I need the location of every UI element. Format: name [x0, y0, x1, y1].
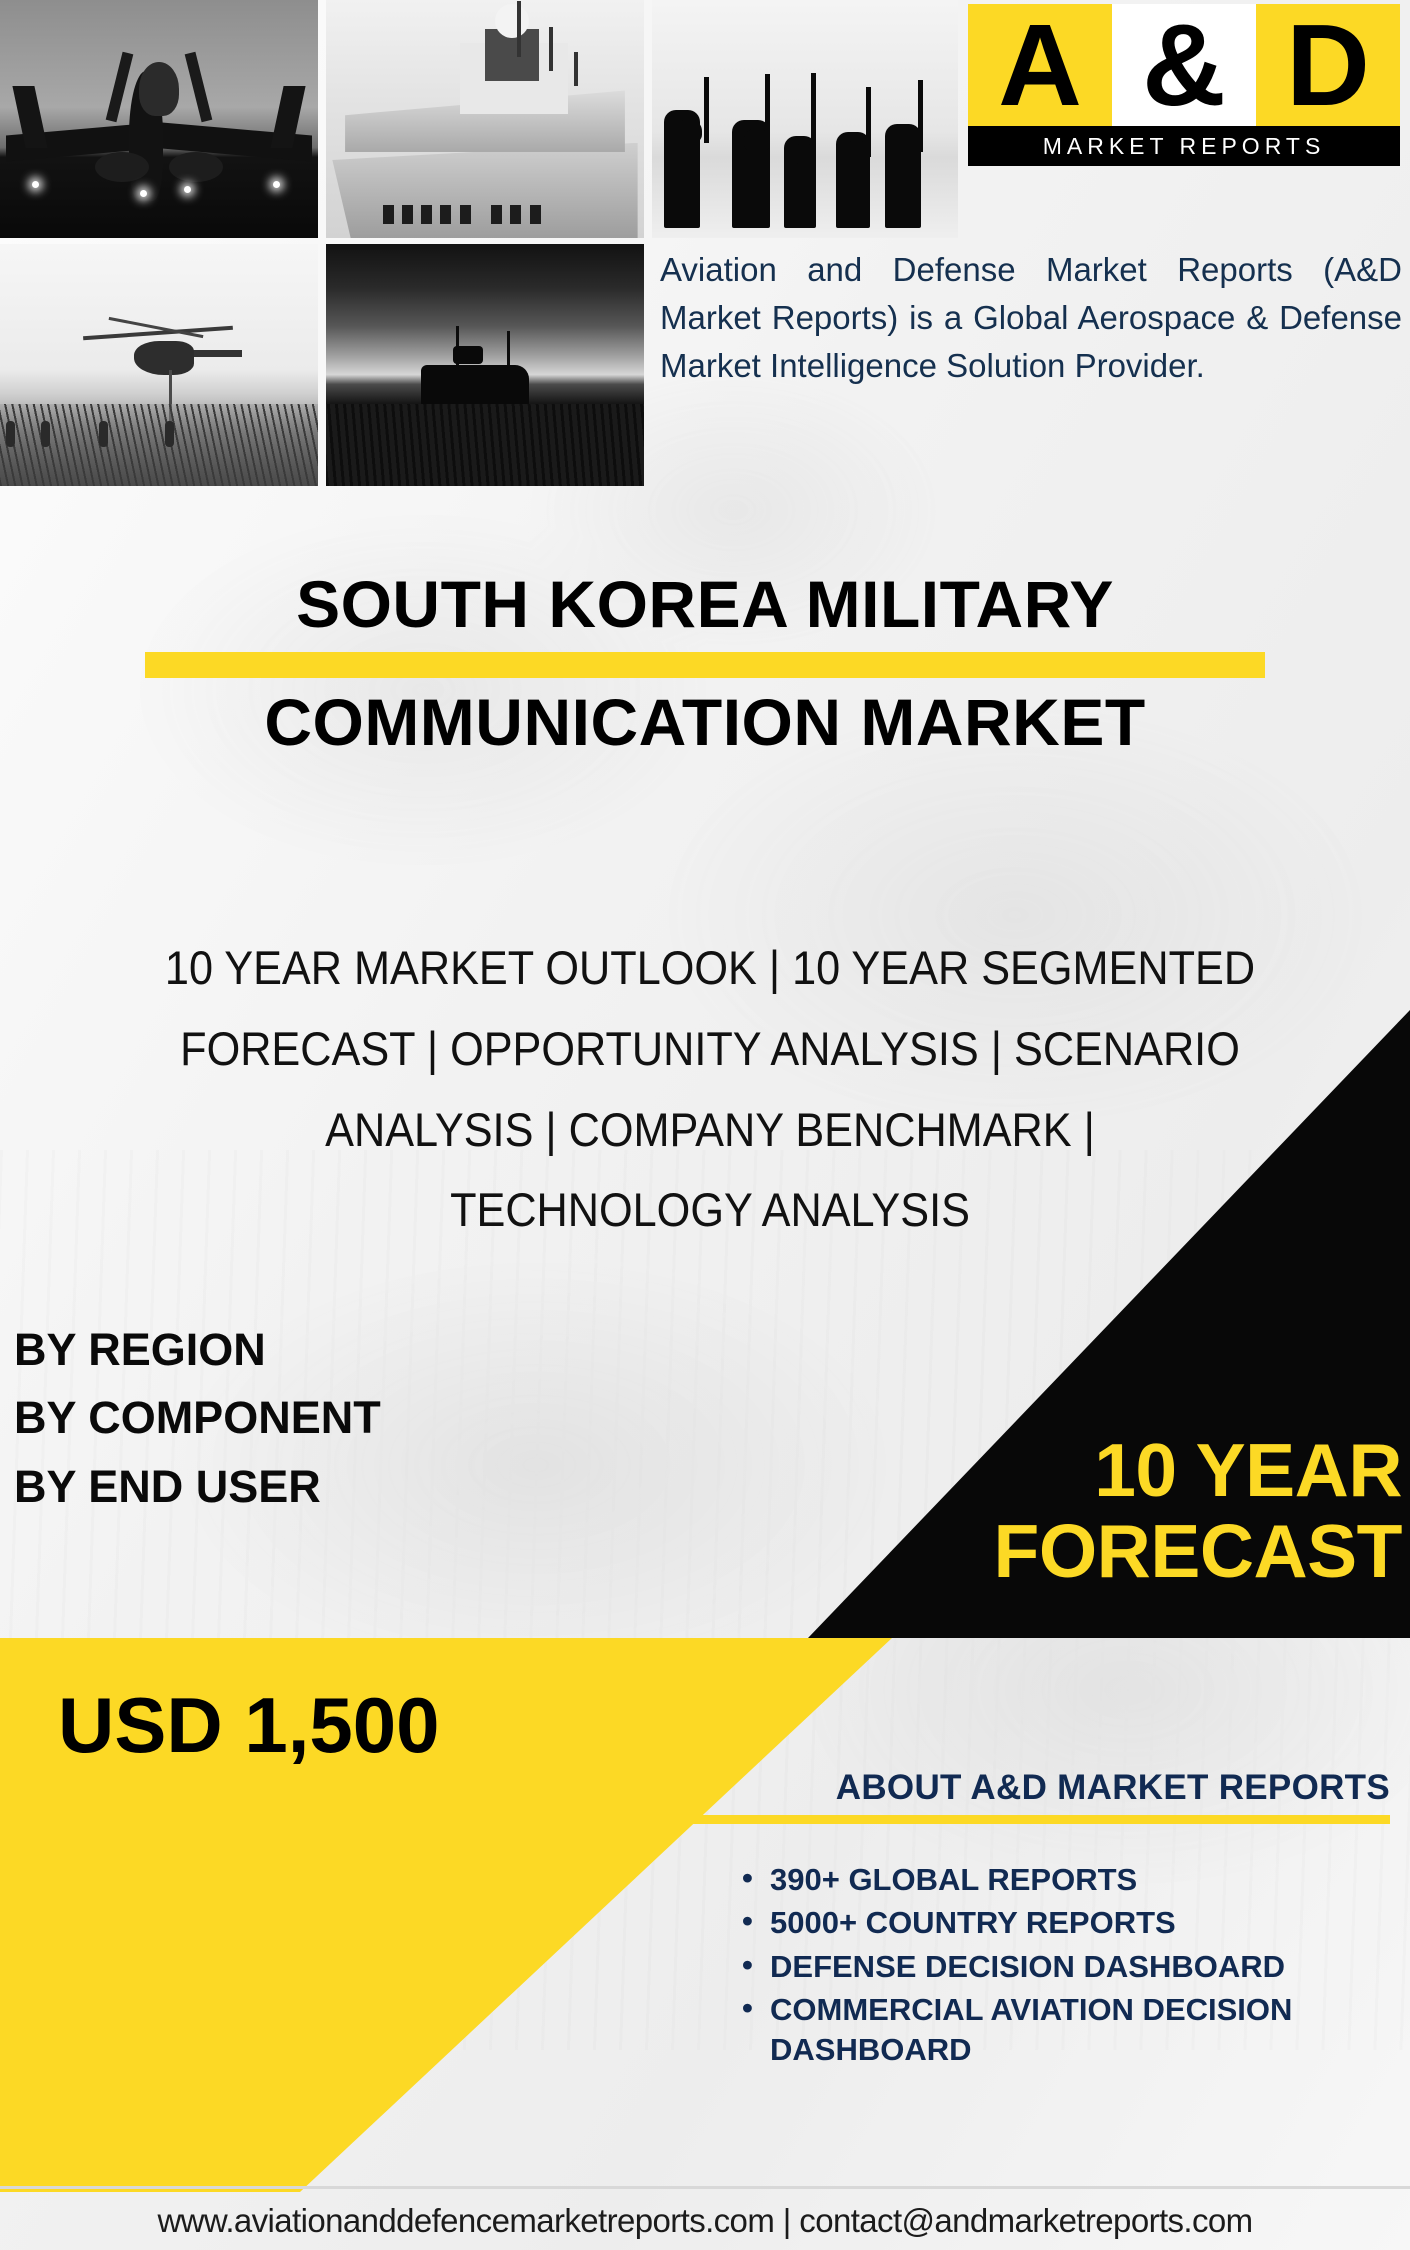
bullet-icon: •: [742, 1858, 753, 1898]
footer-contact[interactable]: www.aviationanddefencemarketreports.com …: [0, 2192, 1410, 2250]
report-title: SOUTH KOREA MILITARY COMMUNICATION MARKE…: [0, 566, 1410, 762]
logo-letter-a: A: [968, 4, 1112, 126]
fighter-jet-on-carrier-photo: [0, 0, 318, 238]
report-title-line1: SOUTH KOREA MILITARY: [0, 566, 1410, 644]
report-scope-subtitle: 10 YEAR MARKET OUTLOOK | 10 YEAR SEGMENT…: [94, 928, 1327, 1251]
bullet-icon: •: [742, 1901, 753, 1941]
poster-canvas: A & D MARKET REPORTS Aviation and Defens…: [0, 0, 1410, 2250]
about-section: ABOUT A&D MARKET REPORTS • 390+ GLOBAL R…: [660, 1768, 1390, 2073]
about-item-label: 390+ GLOBAL REPORTS: [770, 1862, 1137, 1897]
about-heading: ABOUT A&D MARKET REPORTS: [660, 1768, 1390, 1808]
list-item: • DEFENSE DECISION DASHBOARD: [770, 1947, 1384, 1987]
segment-item-component: BY COMPONENT: [14, 1384, 654, 1452]
footer-divider: [0, 2186, 1410, 2189]
bullet-icon: •: [742, 1945, 753, 1985]
segmentation-list: BY REGION BY COMPONENT BY END USER: [14, 1316, 654, 1521]
subtitle-line-1: 10 YEAR MARKET OUTLOOK | 10 YEAR SEGMENT…: [94, 928, 1327, 1009]
list-item: • 390+ GLOBAL REPORTS: [770, 1860, 1384, 1900]
about-item-label: DEFENSE DECISION DASHBOARD: [770, 1949, 1285, 1984]
subtitle-line-3: ANALYSIS | COMPANY BENCHMARK |: [94, 1090, 1327, 1171]
price-label: USD 1,500: [58, 1680, 440, 1771]
about-bullet-list: • 390+ GLOBAL REPORTS • 5000+ COUNTRY RE…: [660, 1860, 1390, 2070]
about-item-label: 5000+ COUNTRY REPORTS: [770, 1905, 1176, 1940]
list-item: • 5000+ COUNTRY REPORTS: [770, 1903, 1384, 1943]
bullet-icon: •: [742, 1988, 753, 2028]
about-item-label: COMMERCIAL AVIATION DECISION DASHBOARD: [770, 1992, 1292, 2067]
title-underline-bar: [145, 652, 1265, 678]
armored-vehicle-photo: [326, 244, 644, 486]
about-heading-underline: [660, 1815, 1390, 1824]
forecast-badge: 10 YEAR FORECAST: [642, 1430, 1402, 1592]
subtitle-line-2: FORECAST | OPPORTUNITY ANALYSIS | SCENAR…: [94, 1009, 1327, 1090]
logo-letter-ampersand: &: [1112, 4, 1256, 126]
warship-photo: [326, 0, 644, 238]
subtitle-line-4: TECHNOLOGY ANALYSIS: [94, 1170, 1327, 1251]
segment-item-end-user: BY END USER: [14, 1453, 654, 1521]
helicopter-fast-rope-photo: [0, 244, 318, 486]
logo-letters: A & D: [968, 4, 1400, 126]
brand-logo[interactable]: A & D MARKET REPORTS: [968, 4, 1400, 168]
report-title-line2: COMMUNICATION MARKET: [0, 684, 1410, 762]
company-intro-paragraph: Aviation and Defense Market Reports (A&D…: [660, 246, 1402, 390]
forecast-badge-line2: FORECAST: [642, 1511, 1402, 1592]
photo-grid: [0, 0, 672, 490]
list-item: • COMMERCIAL AVIATION DECISION DASHBOARD: [770, 1990, 1384, 2071]
forecast-badge-line1: 10 YEAR: [642, 1430, 1402, 1511]
soldiers-silhouette-photo: [652, 0, 958, 238]
logo-tagline: MARKET REPORTS: [968, 126, 1400, 166]
logo-letter-d: D: [1256, 4, 1400, 126]
segment-item-region: BY REGION: [14, 1316, 654, 1384]
